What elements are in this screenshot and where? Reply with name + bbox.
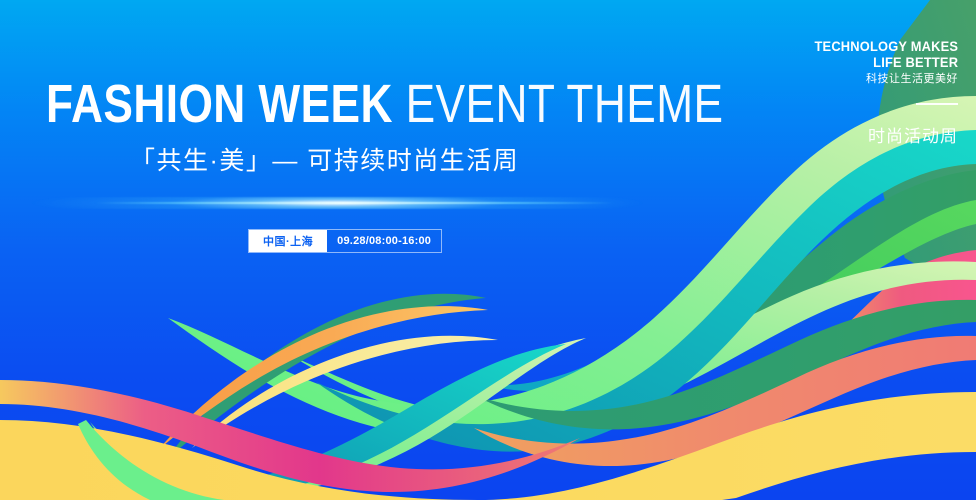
headline-block: FASHION WEEK EVENT THEME — [46, 76, 872, 132]
right-event-label: 时尚活动周 — [868, 122, 958, 147]
title-light: EVENT THEME — [406, 74, 724, 134]
badge-time: 09.28/08:00-16:00 — [327, 230, 441, 252]
tagline-line-2: LIFE BETTER — [814, 54, 958, 70]
event-badge: 中国·上海 09.28/08:00-16:00 — [248, 229, 442, 253]
badge-place: 中国·上海 — [249, 230, 327, 252]
light-streak-core — [95, 202, 615, 204]
tagline-line-1: TECHNOLOGY MAKES — [814, 38, 958, 54]
divider-rule — [916, 103, 958, 105]
page-subtitle: 「共生·美」— 可持续时尚生活周 — [130, 146, 519, 176]
poster-canvas: FASHION WEEK EVENT THEME 「共生·美」— 可持续时尚生活… — [0, 0, 976, 500]
title-bold: FASHION WEEK — [46, 74, 393, 134]
tagline-chinese: 科技让生活更美好 — [802, 72, 958, 87]
right-tagline-block: TECHNOLOGY MAKES LIFE BETTER 科技让生活更美好 — [802, 38, 958, 105]
page-title: FASHION WEEK EVENT THEME — [46, 76, 723, 132]
